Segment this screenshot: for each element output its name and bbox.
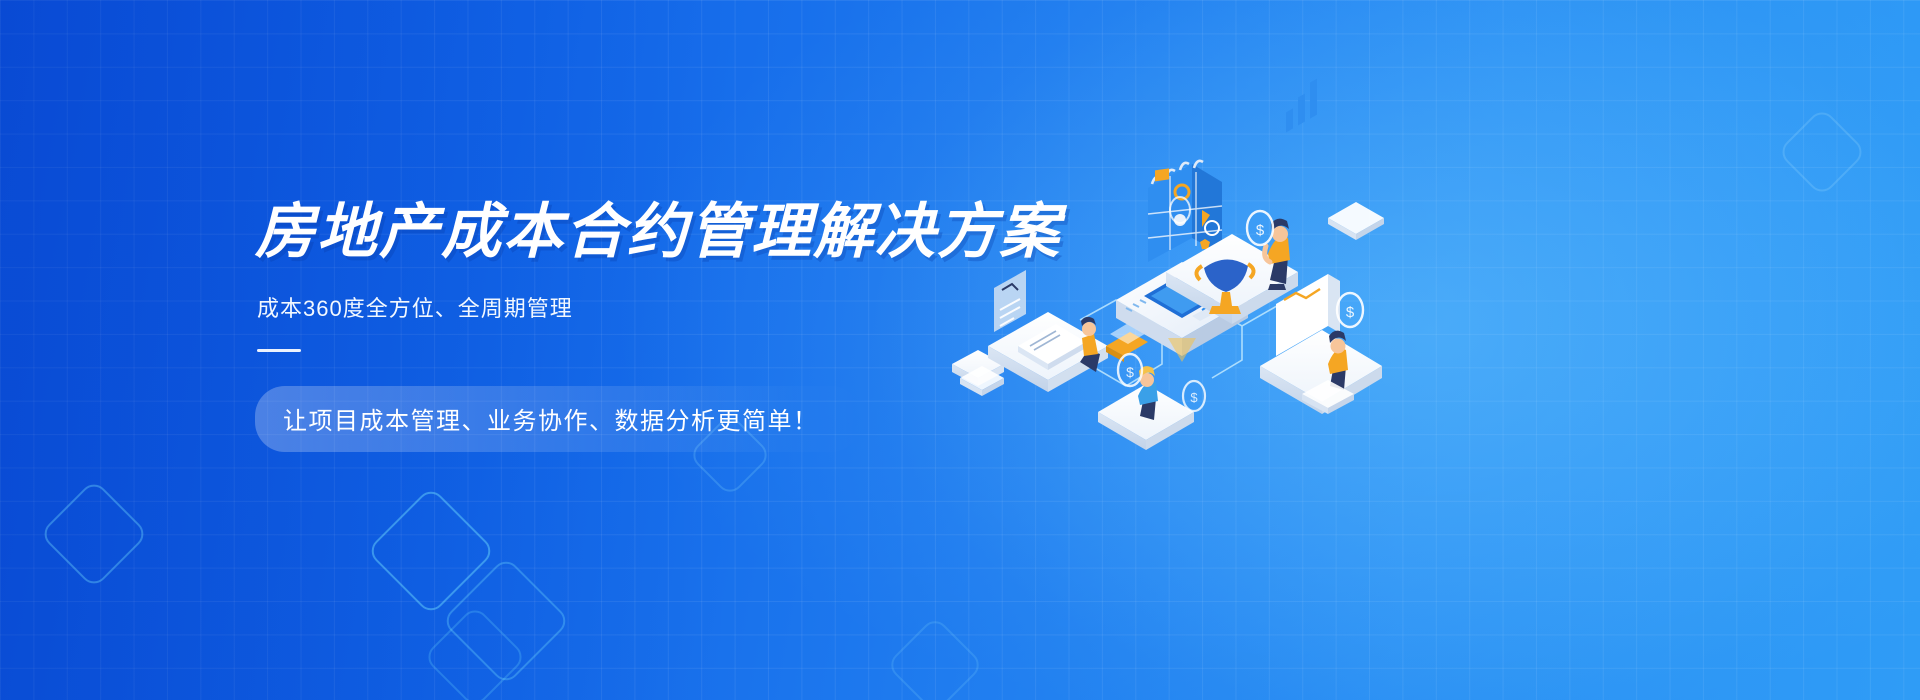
svg-text:$: $ [1126,364,1134,380]
dollar-coin-icon: $ [1183,381,1205,411]
dollar-coin-icon: $ [1337,293,1363,327]
page-subtitle: 成本360度全方位、全周期管理 [257,291,1015,323]
decorative-diamond-icon [1777,107,1868,198]
decorative-diamond-icon [366,486,496,616]
svg-text:$: $ [1346,304,1355,321]
decorative-diamond-icon [39,479,149,589]
decorative-diamond-icon [886,616,985,700]
hero-text-block: 房地产成本合约管理解决方案 成本360度全方位、全周期管理 让项目成本管理、业务… [255,200,1015,452]
title-divider [257,349,301,352]
document-card [994,270,1026,332]
svg-text:$: $ [1190,390,1198,405]
svg-text:$: $ [1256,222,1265,239]
page-title: 房地产成本合约管理解决方案 [255,200,1015,265]
hero-illustration: $ $ $ $ [930,150,1400,450]
floating-tile [1328,202,1384,240]
dollar-coin-icon: $ [1247,211,1273,245]
cta-pill[interactable]: 让项目成本管理、业务协作、数据分析更简单！ [255,386,861,452]
hero-banner: 房地产成本合约管理解决方案 成本360度全方位、全周期管理 让项目成本管理、业务… [0,0,1920,700]
dollar-coin-icon: $ [1118,354,1142,386]
decorative-diamond-icon [423,605,528,700]
decorative-diamond-icon [441,556,571,686]
